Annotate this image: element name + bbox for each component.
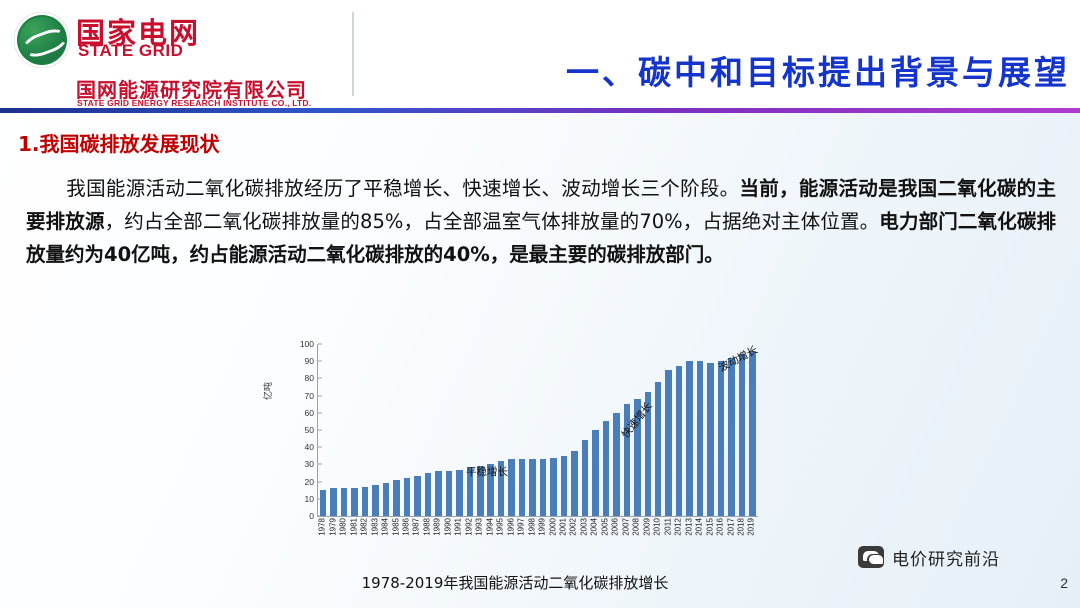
chart-bar bbox=[446, 471, 452, 516]
page-title: 一、碳中和目标提出背景与展望 bbox=[380, 46, 1080, 94]
chart-bar bbox=[435, 471, 441, 516]
chart-x-tick: 2001 bbox=[558, 518, 568, 562]
chart-bar bbox=[383, 483, 389, 516]
chart-x-tick: 1998 bbox=[526, 518, 536, 562]
watermark: 电价研究前沿 bbox=[858, 540, 1058, 574]
chart-bar-cell bbox=[548, 344, 558, 516]
chart-x-tick-label: 2011 bbox=[663, 518, 672, 535]
chart-x-tick: 2019 bbox=[746, 518, 756, 562]
chart-bar-cell bbox=[517, 344, 527, 516]
chart-x-tick: 1997 bbox=[516, 518, 526, 562]
chart-bar bbox=[404, 478, 410, 516]
chart-x-tick-label: 1994 bbox=[485, 518, 494, 536]
chart-bar bbox=[665, 370, 671, 516]
chart-x-tick-label: 2006 bbox=[611, 518, 620, 536]
chart-bar-cell bbox=[486, 344, 496, 516]
slide-header: 国家电网 STATE GRID 国网能源研究院有限公司 STATE GRID E… bbox=[0, 0, 1080, 108]
wechat-icon bbox=[858, 546, 884, 568]
body-paragraph: 我国能源活动二氧化碳排放经历了平稳增长、快速增长、波动增长三个阶段。当前，能源活… bbox=[26, 172, 1056, 271]
chart-x-tick-label: 1985 bbox=[391, 518, 400, 536]
chart-x-tick-label: 2013 bbox=[684, 518, 693, 536]
chart-bar-cell bbox=[360, 344, 370, 516]
chart-bar-cell bbox=[653, 344, 663, 516]
chart-x-tick: 2011 bbox=[662, 518, 672, 562]
chart-x-tick-label: 1978 bbox=[318, 518, 327, 536]
chart-bar-cell bbox=[737, 344, 747, 516]
chart-x-tick-label: 1992 bbox=[464, 518, 473, 536]
chart-bar-cell bbox=[601, 344, 611, 516]
chart-x-tick-label: 2004 bbox=[590, 518, 599, 536]
chart-y-tick-label: 50 bbox=[305, 425, 314, 435]
chart-bar-cell bbox=[423, 344, 433, 516]
chart-x-tick-label: 1988 bbox=[422, 518, 431, 536]
chart-x-tick-label: 2019 bbox=[747, 518, 756, 536]
chart-bar bbox=[320, 490, 326, 516]
chart-bar-cell bbox=[580, 344, 590, 516]
chart-x-tick-label: 2002 bbox=[569, 518, 578, 536]
chart-x-tick: 1995 bbox=[495, 518, 505, 562]
chart-x-tick-label: 1996 bbox=[506, 518, 515, 536]
chart-x-tick: 2006 bbox=[610, 518, 620, 562]
chart-x-ticks: 1978197919801981198219831984198519861987… bbox=[317, 518, 757, 562]
chart-x-tick-label: 1980 bbox=[339, 518, 348, 536]
header-divider bbox=[352, 12, 354, 96]
company-logo: 国家电网 STATE GRID 国网能源研究院有限公司 STATE GRID E… bbox=[14, 8, 344, 104]
chart-x-tick: 1992 bbox=[464, 518, 474, 562]
chart-x-tick: 2002 bbox=[568, 518, 578, 562]
chart-x-tick-label: 2017 bbox=[726, 518, 735, 536]
chart-x-tick-label: 2018 bbox=[736, 518, 745, 536]
chart-x-tick-label: 2012 bbox=[674, 518, 683, 536]
chart-y-tick-label: 100 bbox=[300, 339, 314, 349]
chart-bar bbox=[393, 480, 399, 516]
chart-x-tick: 2015 bbox=[704, 518, 714, 562]
chart-y-axis-label: 亿吨 bbox=[261, 382, 274, 400]
chart-bar-cell bbox=[391, 344, 401, 516]
chart-bar-cell bbox=[318, 344, 328, 516]
annotation-stable-growth: 平稳增长 bbox=[466, 464, 508, 479]
chart-x-tick-label: 1986 bbox=[401, 518, 410, 536]
chart-x-tick-label: 1987 bbox=[412, 518, 421, 536]
chart-bar bbox=[728, 358, 734, 516]
chart-x-tick: 1982 bbox=[359, 518, 369, 562]
chart-bar bbox=[540, 459, 546, 516]
chart-bar-cell bbox=[370, 344, 380, 516]
emissions-chart: 亿吨 0102030405060708090100 平稳增长 快速增长 波动增长… bbox=[255, 340, 775, 565]
watermark-text: 电价研究前沿 bbox=[892, 545, 1000, 570]
chart-x-tick: 2008 bbox=[631, 518, 641, 562]
chart-x-tick-label: 1995 bbox=[496, 518, 505, 536]
chart-x-tick: 1981 bbox=[348, 518, 358, 562]
chart-bar-cell bbox=[538, 344, 548, 516]
chart-x-tick: 2014 bbox=[694, 518, 704, 562]
chart-bar-cell bbox=[695, 344, 705, 516]
chart-bar bbox=[655, 382, 661, 516]
chart-x-tick: 1978 bbox=[317, 518, 327, 562]
chart-x-tick-label: 2003 bbox=[579, 518, 588, 536]
chart-x-tick: 1984 bbox=[380, 518, 390, 562]
chart-x-tick-label: 1981 bbox=[349, 518, 358, 536]
chart-x-tick-label: 2010 bbox=[653, 518, 662, 536]
chart-bar bbox=[739, 354, 745, 516]
chart-bar-cell bbox=[663, 344, 673, 516]
chart-x-tick: 2004 bbox=[589, 518, 599, 562]
chart-bar-cell bbox=[643, 344, 653, 516]
state-grid-globe-icon bbox=[14, 12, 70, 68]
logo-company-name-en: STATE GRID bbox=[78, 42, 183, 60]
chart-bar-cell bbox=[496, 344, 506, 516]
chart-x-tick: 2005 bbox=[600, 518, 610, 562]
chart-bar-cell bbox=[465, 344, 475, 516]
chart-bar bbox=[707, 363, 713, 516]
chart-bar bbox=[561, 456, 567, 516]
chart-x-tick: 2018 bbox=[736, 518, 746, 562]
chart-x-tick: 1991 bbox=[453, 518, 463, 562]
chart-bar-cell bbox=[349, 344, 359, 516]
chart-x-tick: 1996 bbox=[505, 518, 515, 562]
chart-x-tick: 1979 bbox=[327, 518, 337, 562]
chart-x-tick-label: 2001 bbox=[559, 518, 568, 536]
chart-bar-cell bbox=[433, 344, 443, 516]
chart-x-tick-label: 1993 bbox=[475, 518, 484, 536]
section-heading: 1.我国碳排放发展现状 bbox=[18, 128, 220, 157]
chart-x-tick-label: 1998 bbox=[527, 518, 536, 536]
chart-x-tick: 1993 bbox=[474, 518, 484, 562]
chart-plot-area: 0102030405060708090100 平稳增长 快速增长 波动增长 bbox=[317, 344, 758, 517]
chart-bar-cell bbox=[705, 344, 715, 516]
chart-bar-cell bbox=[559, 344, 569, 516]
chart-bar bbox=[550, 458, 556, 516]
chart-y-tick-label: 0 bbox=[309, 511, 314, 521]
chart-x-tick: 2003 bbox=[579, 518, 589, 562]
chart-x-tick-label: 1979 bbox=[328, 518, 337, 536]
chart-x-tick-label: 2015 bbox=[705, 518, 714, 536]
chart-x-tick: 2007 bbox=[621, 518, 631, 562]
chart-bar bbox=[330, 488, 336, 516]
chart-caption: 1978-2019年我国能源活动二氧化碳排放增长 bbox=[255, 572, 775, 593]
chart-x-tick: 1989 bbox=[432, 518, 442, 562]
chart-bar-cell bbox=[328, 344, 338, 516]
page-number: 2 bbox=[1060, 575, 1068, 591]
chart-x-tick-label: 1999 bbox=[538, 518, 547, 536]
chart-bar-cell bbox=[381, 344, 391, 516]
chart-bar bbox=[414, 476, 420, 516]
chart-x-tick: 1988 bbox=[422, 518, 432, 562]
chart-y-tick-label: 30 bbox=[305, 459, 314, 469]
chart-x-tick: 1980 bbox=[338, 518, 348, 562]
chart-bar bbox=[613, 413, 619, 516]
chart-x-tick-label: 2008 bbox=[632, 518, 641, 536]
chart-x-tick: 1994 bbox=[485, 518, 495, 562]
chart-bar bbox=[697, 361, 703, 516]
chart-x-tick: 2010 bbox=[652, 518, 662, 562]
chart-x-tick: 2013 bbox=[683, 518, 693, 562]
chart-bar bbox=[425, 473, 431, 516]
chart-bar-cell bbox=[475, 344, 485, 516]
chart-y-tick-label: 80 bbox=[305, 373, 314, 383]
chart-bar bbox=[749, 351, 755, 516]
chart-bar-cell bbox=[747, 344, 757, 516]
chart-x-tick: 1999 bbox=[537, 518, 547, 562]
chart-bar bbox=[372, 485, 378, 516]
chart-x-tick-label: 2009 bbox=[642, 518, 651, 536]
chart-x-tick-label: 2005 bbox=[600, 518, 609, 536]
chart-bar-cell bbox=[674, 344, 684, 516]
chart-bar bbox=[582, 440, 588, 516]
chart-bar bbox=[592, 430, 598, 516]
chart-y-tick-label: 90 bbox=[305, 356, 314, 366]
chart-bar bbox=[519, 459, 525, 516]
chart-x-tick-label: 1982 bbox=[360, 518, 369, 536]
chart-bars bbox=[318, 344, 758, 516]
chart-bar-cell bbox=[569, 344, 579, 516]
chart-y-tick-label: 60 bbox=[305, 408, 314, 418]
chart-y-tick-label: 40 bbox=[305, 442, 314, 452]
chart-x-tick: 2000 bbox=[547, 518, 557, 562]
header-rule bbox=[0, 108, 1080, 113]
chart-x-tick-label: 2014 bbox=[695, 518, 704, 536]
chart-bar bbox=[676, 366, 682, 516]
paragraph-text-2: ，约占全部二氧化碳排放量的85%，占全部温室气体排放量的70%，占据绝对主体位置… bbox=[105, 210, 880, 233]
chart-x-tick: 2016 bbox=[715, 518, 725, 562]
chart-bar-cell bbox=[444, 344, 454, 516]
chart-bar bbox=[508, 459, 514, 516]
chart-bar-cell bbox=[412, 344, 422, 516]
chart-bar-cell bbox=[684, 344, 694, 516]
chart-x-tick: 1987 bbox=[411, 518, 421, 562]
chart-y-tick-label: 10 bbox=[305, 494, 314, 504]
chart-x-tick: 1986 bbox=[401, 518, 411, 562]
chart-bar-cell bbox=[590, 344, 600, 516]
chart-x-tick: 1985 bbox=[390, 518, 400, 562]
chart-bar bbox=[341, 488, 347, 516]
chart-y-tick-label: 70 bbox=[305, 391, 314, 401]
chart-bar-cell bbox=[527, 344, 537, 516]
chart-x-tick-label: 2007 bbox=[621, 518, 630, 536]
chart-bar bbox=[362, 487, 368, 516]
chart-x-tick-label: 1983 bbox=[370, 518, 379, 536]
chart-bar-cell bbox=[454, 344, 464, 516]
logo-institute-name-en: STATE GRID ENERGY RESEARCH INSTITUTE CO.… bbox=[77, 98, 311, 108]
slide: 国家电网 STATE GRID 国网能源研究院有限公司 STATE GRID E… bbox=[0, 0, 1080, 608]
chart-x-tick: 1990 bbox=[443, 518, 453, 562]
chart-x-tick: 1983 bbox=[369, 518, 379, 562]
chart-bar bbox=[529, 459, 535, 516]
chart-bar bbox=[456, 470, 462, 516]
chart-x-tick-label: 1990 bbox=[443, 518, 452, 536]
paragraph-text-1: 我国能源活动二氧化碳排放经历了平稳增长、快速增长、波动增长三个阶段。 bbox=[66, 177, 739, 200]
chart-bar-cell bbox=[339, 344, 349, 516]
chart-x-tick: 2009 bbox=[642, 518, 652, 562]
chart-bar bbox=[718, 361, 724, 516]
chart-x-tick-label: 1984 bbox=[381, 518, 390, 536]
chart-x-tick: 2017 bbox=[725, 518, 735, 562]
chart-bar bbox=[571, 451, 577, 516]
chart-bar bbox=[603, 421, 609, 516]
chart-y-tick-label: 20 bbox=[305, 477, 314, 487]
chart-bar bbox=[351, 488, 357, 516]
chart-x-tick-label: 2000 bbox=[548, 518, 557, 536]
chart-x-tick-label: 1997 bbox=[517, 518, 526, 536]
chart-x-tick-label: 1989 bbox=[433, 518, 442, 536]
chart-bar-cell bbox=[506, 344, 516, 516]
chart-x-tick-label: 1991 bbox=[454, 518, 463, 536]
chart-bar bbox=[686, 361, 692, 516]
chart-x-tick-label: 2016 bbox=[716, 518, 725, 536]
chart-x-tick: 2012 bbox=[673, 518, 683, 562]
chart-bar-cell bbox=[402, 344, 412, 516]
